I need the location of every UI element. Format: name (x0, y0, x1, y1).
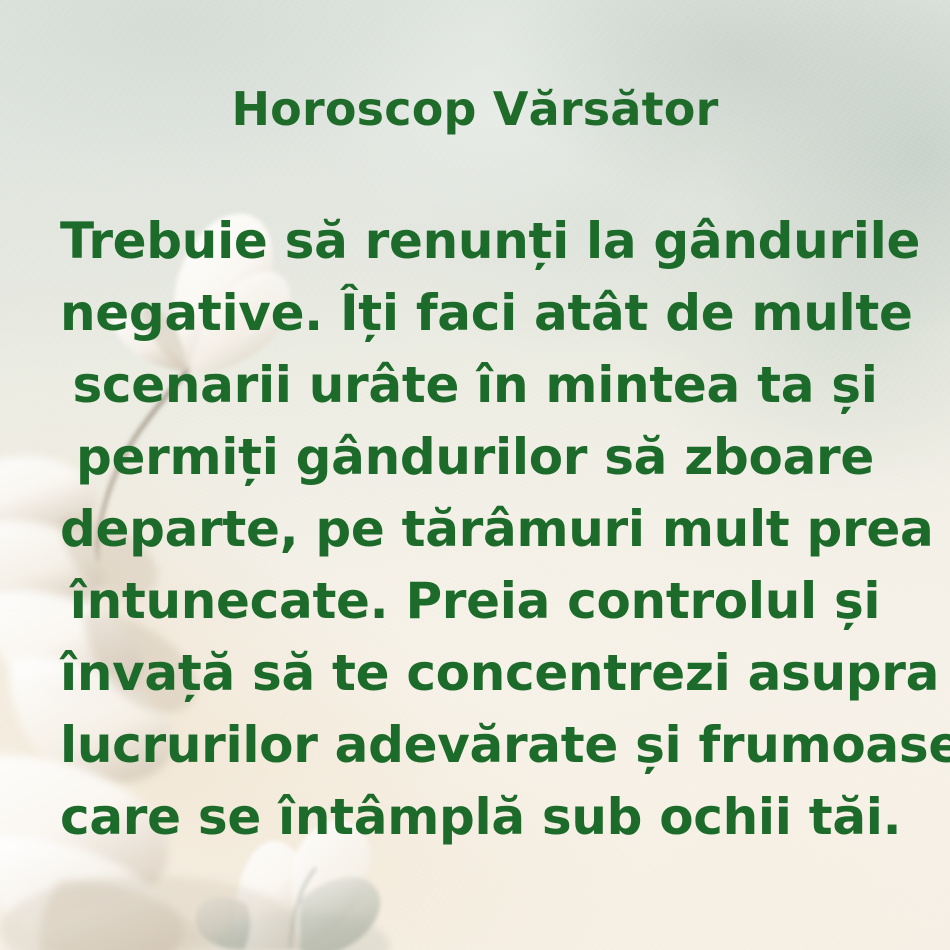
horoscope-text-block: Trebuie să renunți la gândurile negative… (60, 205, 890, 853)
horoscope-text-line: Trebuie să renunți la gândurile (60, 205, 890, 277)
horoscope-card: Horoscop Vărsător Trebuie să renunți la … (0, 0, 950, 950)
page-title: Horoscop Vărsător (231, 84, 718, 135)
card-content: Horoscop Vărsător Trebuie să renunți la … (0, 0, 950, 950)
horoscope-text-line: scenarii urâte în mintea ta și (60, 349, 890, 421)
horoscope-text-line: negative. Îți faci atât de multe (60, 277, 890, 349)
horoscope-text-line: învață să te concentrezi asupra (60, 637, 890, 709)
horoscope-text-line: departe, pe tărâmuri mult prea (60, 493, 890, 565)
horoscope-text-line: lucrurilor adevărate și frumoase, (60, 709, 890, 781)
horoscope-text-line: care se întâmplă sub ochii tăi. (60, 781, 890, 853)
horoscope-text-line: întunecate. Preia controlul și (60, 565, 890, 637)
horoscope-text-line: permiți gândurilor să zboare (60, 421, 890, 493)
